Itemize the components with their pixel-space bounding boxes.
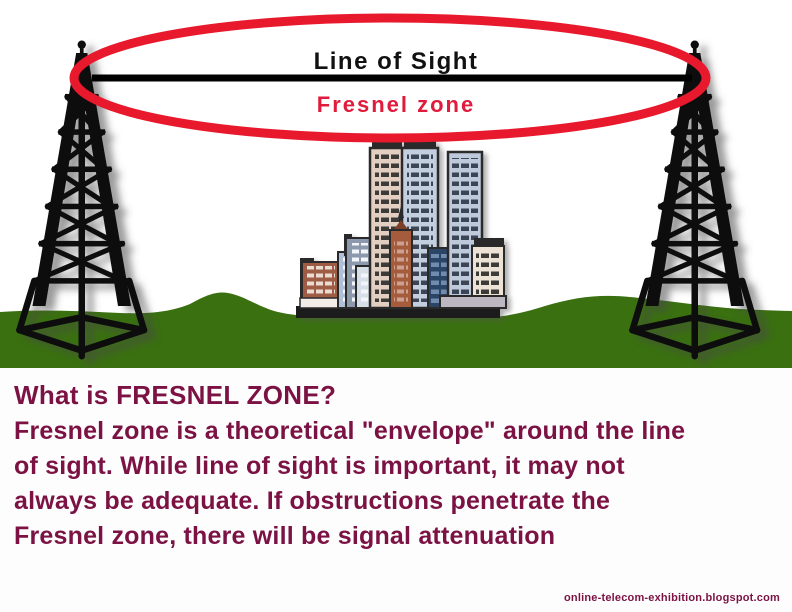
footer-credit: online-telecom-exhibition.blogspot.com — [564, 592, 780, 604]
caption-line: Fresnel zone, there will be signal atten… — [14, 519, 778, 554]
caption-heading: What is FRESNEL ZONE? — [14, 378, 778, 412]
city-skyline — [296, 140, 506, 318]
caption-line: always be adequate. If obstructions pene… — [14, 484, 778, 519]
caption-line: Fresnel zone is a theoretical "envelope"… — [14, 414, 778, 449]
line-of-sight-label: Line of Sight — [0, 48, 792, 76]
diagram-illustration: Line of Sight Fresnel zone — [0, 0, 792, 368]
building-brown-left — [300, 258, 342, 308]
caption-block: What is FRESNEL ZONE? Fresnel zone is a … — [0, 368, 792, 612]
caption-line: of sight. While line of sight is importa… — [14, 449, 778, 484]
caption-body: Fresnel zone is a theoretical "envelope"… — [14, 414, 778, 554]
fresnel-zone-infographic: Line of Sight Fresnel zone What is FRESN… — [0, 0, 792, 612]
fresnel-zone-label: Fresnel zone — [0, 92, 792, 118]
